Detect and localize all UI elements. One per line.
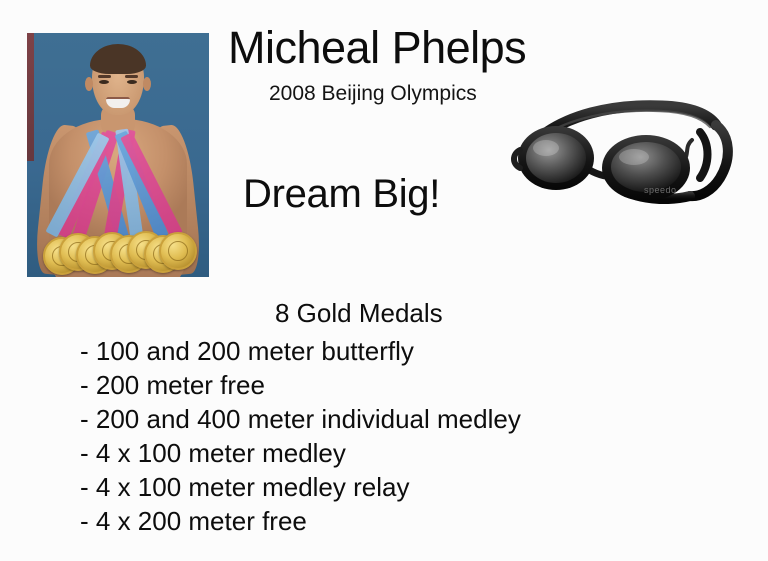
goggles-icon: speedo — [494, 92, 744, 204]
page-title: Micheal Phelps — [228, 24, 526, 71]
goggles-left-lens — [526, 133, 586, 183]
list-item: - 4 x 100 meter medley relay — [80, 470, 521, 504]
slide-canvas: Micheal Phelps 2008 Beijing Olympics Dre… — [0, 0, 768, 561]
photo-gold-medals — [43, 229, 193, 273]
goggles-brand-text: speedo — [644, 185, 677, 195]
goggles-buckle — [700, 132, 708, 178]
medal-events-list: - 100 and 200 meter butterfly - 200 mete… — [80, 334, 521, 538]
medals-heading: 8 Gold Medals — [275, 298, 443, 329]
list-item: - 200 and 400 meter individual medley — [80, 402, 521, 436]
list-item: - 100 and 200 meter butterfly — [80, 334, 521, 368]
goggles-right-lens-glare — [619, 149, 649, 165]
goggles-left-lens-glare — [533, 140, 559, 156]
tagline: Dream Big! — [243, 172, 440, 217]
list-item: - 4 x 100 meter medley — [80, 436, 521, 470]
list-item: - 4 x 200 meter free — [80, 504, 521, 538]
swimming-goggles-image: speedo — [494, 92, 744, 204]
gold-medal — [159, 232, 197, 270]
list-item: - 200 meter free — [80, 368, 521, 402]
page-subtitle: 2008 Beijing Olympics — [269, 82, 477, 106]
phelps-photo — [27, 33, 209, 277]
